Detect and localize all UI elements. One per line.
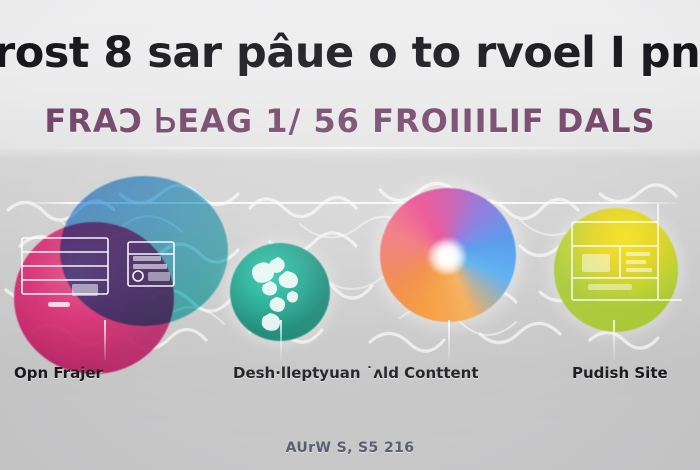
- layout-page-icon: [548, 204, 682, 338]
- timeline-label-2: Desh·lleptyuan ˙ʌld Conttent: [233, 362, 479, 384]
- footer-caption: AUrW S, S5 216: [0, 438, 700, 458]
- timeline-stem-2: [280, 320, 282, 360]
- timeline-stem-4: [613, 320, 615, 360]
- blob-swirl-core: [428, 236, 468, 276]
- page-subtitle: FRAƆ ᏏEAG 1/ 56 FROIIILIF DALS: [0, 99, 700, 143]
- timeline-stem-1: [104, 320, 106, 360]
- timeline-node-4[interactable]: [548, 204, 682, 338]
- page-title: rost 8 sar pâue o to rvoel I pnble Dq: [0, 25, 700, 81]
- timeline-label-4: Pudish Site: [572, 362, 668, 384]
- infographic-canvas: rost 8 sar pâue o to rvoel I pnble Dq FR…: [0, 0, 700, 470]
- header-divider: [0, 147, 700, 149]
- timeline-label-1: Opn Frajer: [14, 362, 103, 384]
- browser-window-icon: [8, 176, 208, 336]
- timeline-node-3[interactable]: [376, 186, 522, 326]
- timeline-node-1[interactable]: [8, 176, 208, 336]
- timeline-stem-3: [448, 320, 450, 360]
